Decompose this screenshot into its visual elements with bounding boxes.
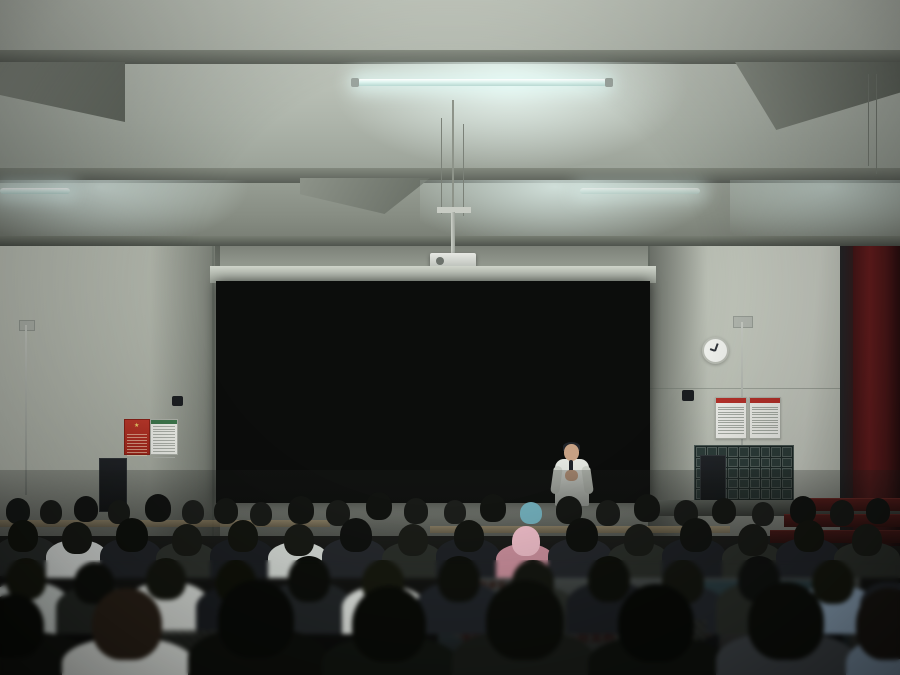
audience-head (454, 520, 484, 552)
audience-head (8, 520, 38, 552)
audience-head (288, 496, 314, 524)
audience-head (852, 524, 882, 556)
audience-head-front (218, 580, 294, 658)
poster-body (716, 403, 746, 434)
audience-head (145, 494, 171, 522)
audience-head (116, 518, 148, 552)
audience-head (680, 518, 712, 552)
hanging-cable (463, 124, 464, 216)
audience-head (588, 556, 630, 602)
audience-head (738, 524, 768, 556)
fluorescent-tube-left-icon (0, 188, 70, 194)
audience-head (596, 500, 620, 526)
presenter-head (564, 444, 579, 461)
audience-head (624, 524, 654, 556)
audience-head-front (352, 586, 426, 662)
audience-head (74, 496, 98, 522)
audience (0, 470, 900, 675)
audience-head (398, 524, 428, 556)
wall-poster (749, 397, 781, 439)
ceiling-panel (0, 0, 900, 52)
audience-head (480, 494, 506, 522)
audience-head-front (618, 584, 694, 662)
hanging-cable (452, 100, 454, 212)
audience-head (284, 524, 314, 556)
fluorescent-tube-right-icon (580, 188, 700, 194)
audience-head (866, 498, 890, 524)
tube-cap (351, 78, 359, 87)
audience-head (438, 556, 480, 602)
audience-head (752, 502, 774, 526)
audience-head (566, 518, 598, 552)
audience-head (214, 498, 238, 524)
wall-poster-notice (150, 419, 178, 455)
audience-head (250, 502, 272, 526)
audience-head (812, 560, 854, 604)
hanging-cable (441, 118, 442, 214)
ceiling-rib (300, 178, 430, 214)
poster-body (127, 432, 147, 458)
audience-head (288, 556, 330, 602)
audience-head (634, 494, 660, 522)
wall-poster (715, 397, 747, 439)
lecture-hall-photo: 邯郸职业技术学院 HANDAN POLYTECHNIC COLLEGE 认识大学… (0, 0, 900, 675)
wall-bracket (19, 320, 35, 331)
wall-clock (702, 337, 729, 364)
hanging-cable (876, 74, 877, 174)
audience-cap-pink (512, 526, 540, 556)
ceiling-rib (0, 62, 125, 122)
projector-mount-pole (451, 212, 455, 256)
audience-head (794, 520, 824, 552)
audience-head (182, 500, 204, 524)
poster-body (750, 403, 780, 434)
wall-speaker (172, 396, 183, 406)
audience-head (404, 498, 428, 524)
ceiling-beam (0, 236, 900, 246)
audience-cap-teal (520, 502, 542, 524)
poster-header (151, 420, 177, 424)
audience-head (62, 522, 92, 554)
audience-head (228, 520, 258, 552)
audience-head (146, 558, 186, 600)
wall-seam (648, 388, 853, 389)
wall-speaker (682, 390, 694, 401)
audience-head-front-ponytail (92, 588, 162, 660)
projector-lens-icon (436, 257, 444, 265)
audience-head (172, 524, 202, 556)
audience-head (366, 492, 392, 520)
audience-head (830, 500, 854, 526)
wall-poster-red: ★ (124, 419, 150, 455)
tube-cap (605, 78, 613, 87)
audience-head (712, 498, 736, 524)
star-icon: ★ (134, 423, 140, 429)
audience-head-front (748, 582, 824, 660)
hanging-cable (868, 74, 869, 166)
wall-bracket (733, 316, 753, 328)
audience-head (340, 518, 372, 552)
audience-head-front (486, 580, 564, 660)
fluorescent-tube-center-icon (357, 79, 607, 86)
audience-head (40, 500, 62, 524)
